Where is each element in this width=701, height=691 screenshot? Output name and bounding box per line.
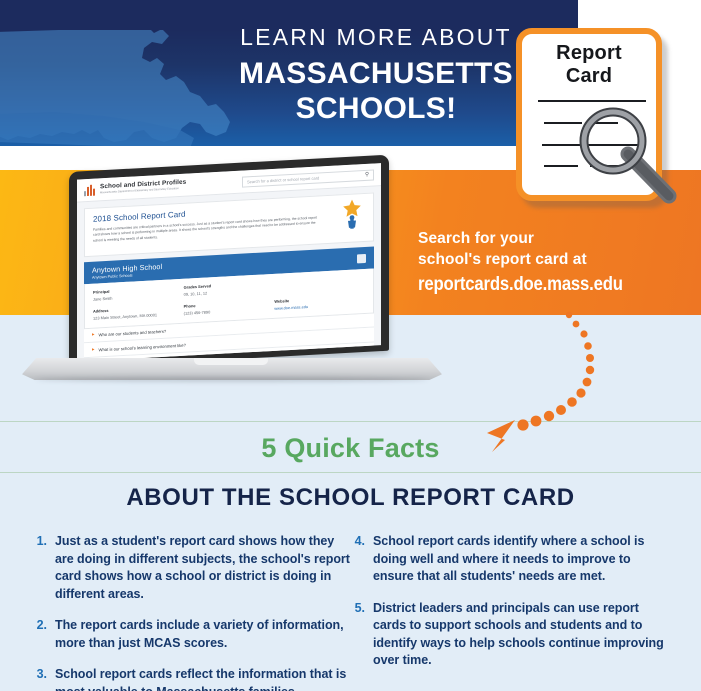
fact-item: 3. School report cards reflect the infor… xyxy=(33,666,351,691)
fact-item: 5. District leaders and principals can u… xyxy=(351,600,673,670)
laptop-lid: School and District Profiles Massachuset… xyxy=(69,155,389,368)
fact-item: 2. The report cards include a variety of… xyxy=(33,617,351,652)
fact-number: 3. xyxy=(33,666,47,691)
info-cell: Grades Served 09, 10, 11, 12 xyxy=(184,280,275,297)
magnifying-glass-icon xyxy=(576,104,681,204)
infographic-canvas: LEARN MORE ABOUT MASSACHUSETTS SCHOOLS! … xyxy=(0,0,701,691)
search-promo-block: Search for your school's report card at … xyxy=(418,228,688,297)
site-body: 2018 School Report Card Families and com… xyxy=(77,186,381,361)
chevron-right-icon: ▸ xyxy=(92,333,95,338)
fact-text: The report cards include a variety of in… xyxy=(55,617,351,652)
laptop-drop-shadow xyxy=(36,377,428,382)
site-search-placeholder: Search for a district or school report c… xyxy=(247,175,319,184)
facts-grid: 1. Just as a student's report card shows… xyxy=(33,533,673,691)
accordion-label: What is our school's learning environmen… xyxy=(99,342,186,352)
facts-column-left: 1. Just as a student's report card shows… xyxy=(33,533,351,691)
header-text-block: LEARN MORE ABOUT MASSACHUSETTS SCHOOLS! xyxy=(180,22,572,126)
profiles-logo-icon xyxy=(84,184,95,196)
search-promo-line2: school's report card at xyxy=(418,249,688,270)
laptop-screen: School and District Profiles Massachuset… xyxy=(77,163,381,361)
site-search-input[interactable]: Search for a district or school report c… xyxy=(242,169,374,187)
info-cell xyxy=(274,275,365,292)
report-card-graphic: Report Card xyxy=(516,28,668,208)
fact-number: 1. xyxy=(33,533,47,603)
laptop-mockup: School and District Profiles Massachuset… xyxy=(22,172,442,397)
report-card-url[interactable]: reportcards.doe.mass.edu xyxy=(418,273,656,297)
star-person-icon xyxy=(341,198,363,231)
report-card-rule xyxy=(538,100,646,102)
search-icon[interactable]: ⚲ xyxy=(365,172,369,178)
search-promo-line1: Search for your xyxy=(418,228,688,249)
report-card-title-line2: Card xyxy=(566,65,612,87)
accordion-label: Who are our students and teachers? xyxy=(99,329,167,338)
about-heading: ABOUT THE SCHOOL REPORT CARD xyxy=(0,484,701,512)
fact-item: 4. School report cards identify where a … xyxy=(351,533,673,586)
report-card-rule xyxy=(544,165,578,167)
fact-text: School report cards identify where a sch… xyxy=(373,533,673,586)
curved-dotted-arrow xyxy=(465,300,605,460)
site-brand: School and District Profiles Massachuset… xyxy=(100,179,186,194)
fact-number: 4. xyxy=(351,533,365,586)
print-button[interactable] xyxy=(357,253,366,262)
facts-column-right: 4. School report cards identify where a … xyxy=(351,533,673,691)
info-cell: Phone (123) 456-7890 xyxy=(184,299,275,316)
fact-number: 5. xyxy=(351,600,365,670)
report-card-intro-card: 2018 School Report Card Families and com… xyxy=(84,192,374,257)
fact-text: School report cards reflect the informat… xyxy=(55,666,351,691)
header-title-line2: SCHOOLS! xyxy=(180,91,572,126)
fact-number: 2. xyxy=(33,617,47,652)
fact-item: 1. Just as a student's report card shows… xyxy=(33,533,351,603)
fact-text: Just as a student's report card shows ho… xyxy=(55,533,351,603)
header-eyebrow: LEARN MORE ABOUT xyxy=(180,22,572,52)
fact-text: District leaders and principals can use … xyxy=(373,600,673,670)
report-card-title: Report Card xyxy=(522,42,656,88)
laptop-base-notch xyxy=(194,358,268,365)
header-title-line1: MASSACHUSETTS xyxy=(180,56,572,91)
divider-line-bottom xyxy=(0,472,701,473)
report-card-title-line1: Report xyxy=(556,42,622,64)
info-cell: Address 123 Main Street, Anytown, MA 000… xyxy=(93,304,184,321)
info-cell: Principal Jane Smith xyxy=(93,285,184,302)
info-cell: Website www.doe.mass.edu xyxy=(274,294,365,311)
chevron-right-icon: ▸ xyxy=(92,347,95,352)
